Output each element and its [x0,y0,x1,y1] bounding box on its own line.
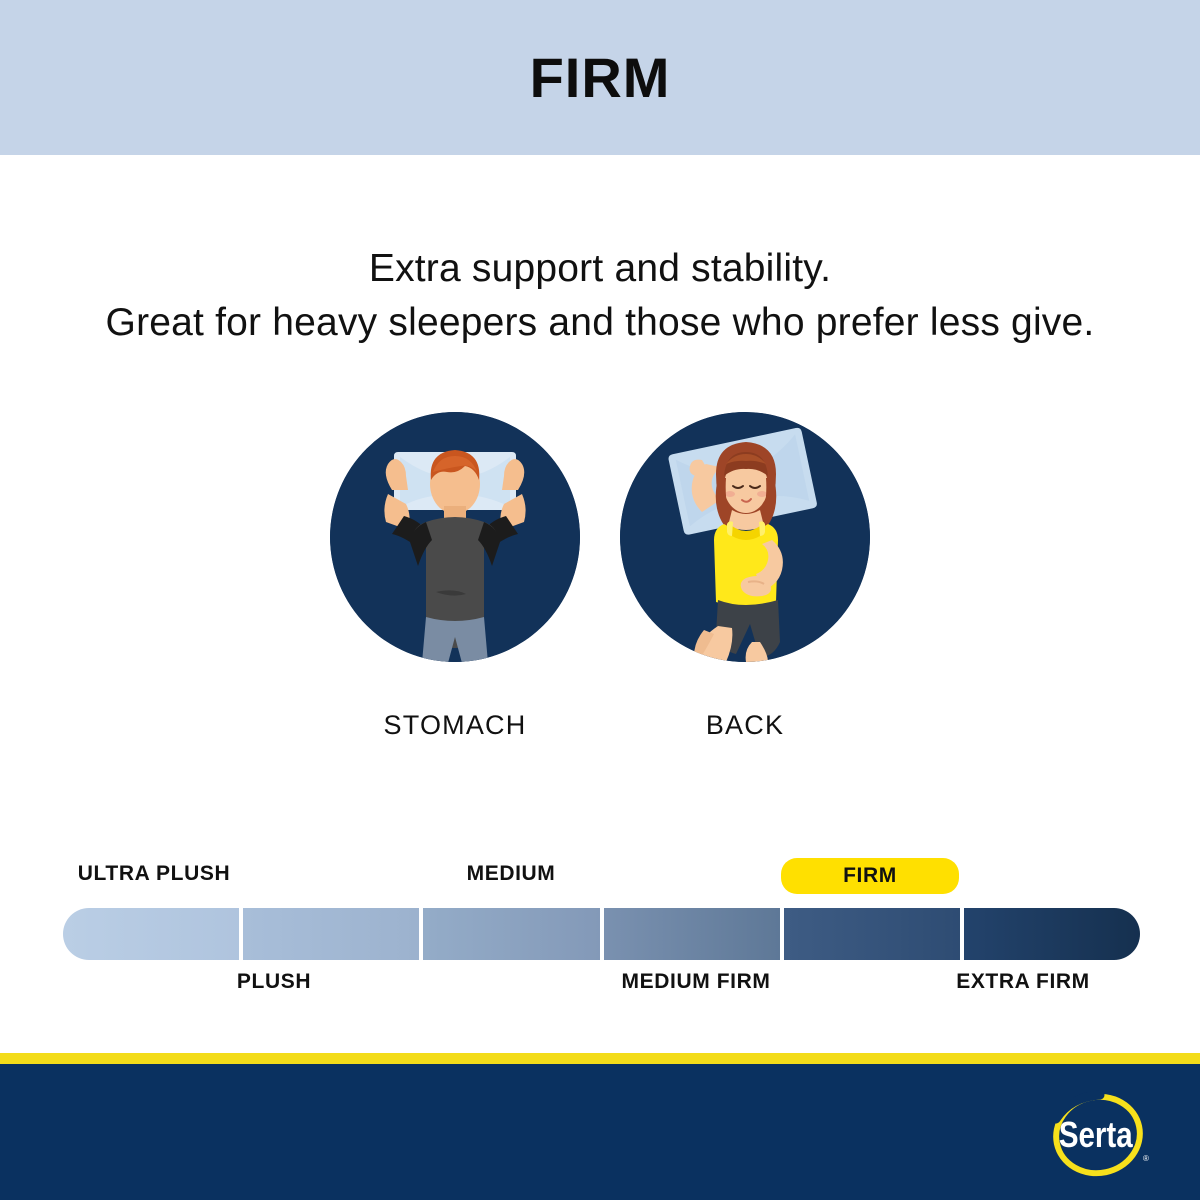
scale-segment-extra-firm [964,908,1140,960]
scale-labels-top: ULTRA PLUSH MEDIUM FIRM [63,862,1140,898]
subtitle-line-2: Great for heavy sleepers and those who p… [0,296,1200,350]
scale-label-medium: MEDIUM [467,862,556,886]
scale-label-plush: PLUSH [237,970,311,994]
subtitle-block: Extra support and stability. Great for h… [0,242,1200,350]
scale-label-ultra-plush: ULTRA PLUSH [78,862,230,886]
scale-label-extra-firm: EXTRA FIRM [956,970,1090,994]
scale-bar [63,908,1140,960]
firmness-scale: ULTRA PLUSH MEDIUM FIRM PLUSH MEDIUM FIR… [63,862,1140,1007]
footer-bar [0,1064,1200,1200]
sleeper-label-stomach: STOMACH [384,710,527,741]
sleeper-back: BACK [620,412,870,741]
subtitle-line-1: Extra support and stability. [0,242,1200,296]
sleeper-positions-group: STOMACH [0,412,1200,741]
sleeper-label-back: BACK [706,710,784,741]
scale-labels-bottom: PLUSH MEDIUM FIRM EXTRA FIRM [63,970,1140,1006]
stomach-sleeper-illustration [330,412,580,662]
serta-registered-mark: ® [1143,1154,1149,1163]
serta-logo-text: Serta [1059,1114,1133,1154]
scale-segment-medium [423,908,599,960]
footer-yellow-stripe [0,1053,1200,1064]
page-title: FIRM [530,45,671,110]
scale-label-firm-selected: FIRM [781,858,959,894]
scale-label-medium-firm: MEDIUM FIRM [622,970,771,994]
serta-logo: Serta ® [1040,1085,1160,1185]
scale-segment-firm [784,908,960,960]
scale-segment-ultra-plush [63,908,239,960]
header-band: FIRM [0,0,1200,155]
back-sleeper-illustration [620,412,870,662]
sleeper-stomach: STOMACH [330,412,580,741]
scale-segment-medium-firm [604,908,780,960]
scale-segment-plush [243,908,419,960]
